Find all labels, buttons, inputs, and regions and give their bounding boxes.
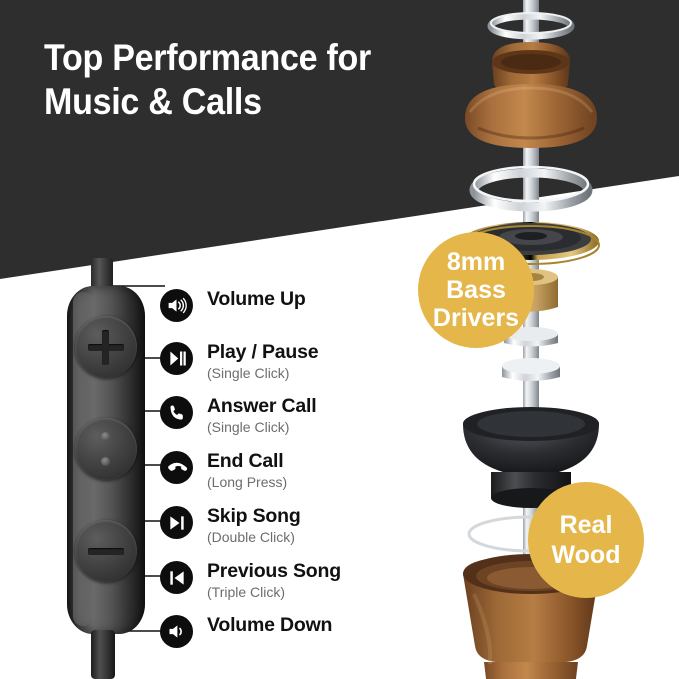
plus-icon-vertical	[102, 330, 109, 365]
feature-sublabel: (Long Press)	[207, 473, 287, 492]
volume-up-icon	[160, 289, 193, 322]
badge-line-2: Wood	[552, 540, 621, 570]
dot-upper-icon	[101, 432, 110, 441]
multifunction-button[interactable]	[75, 418, 137, 480]
feature-previous-song: Previous Song (Triple Click)	[160, 560, 341, 602]
feature-end-call: End Call (Long Press)	[160, 450, 287, 492]
feature-label: End Call	[207, 450, 287, 472]
page-title: Top Performance for Music & Calls	[44, 36, 430, 124]
real-wood-badge: Real Wood	[528, 482, 644, 598]
answer-call-icon	[160, 396, 193, 429]
volume-down-button[interactable]	[75, 520, 137, 582]
headline-line-1: Top Performance for	[44, 36, 430, 80]
badge-line-3: Drivers	[433, 304, 519, 332]
badge-line-2: Bass	[446, 276, 506, 304]
volume-down-icon	[160, 615, 193, 648]
feature-volume-down: Volume Down	[160, 614, 332, 648]
feature-volume-up: Volume Up	[160, 288, 306, 322]
feature-text: Skip Song (Double Click)	[207, 505, 301, 547]
feature-label: Skip Song	[207, 505, 301, 527]
feature-sublabel: (Single Click)	[207, 418, 316, 437]
feature-sublabel: (Double Click)	[207, 528, 301, 547]
skip-song-icon	[160, 506, 193, 539]
feature-text: Volume Up	[207, 288, 306, 310]
feature-label: Answer Call	[207, 395, 316, 417]
feature-label: Previous Song	[207, 560, 341, 582]
feature-text: End Call (Long Press)	[207, 450, 287, 492]
badge-line-1: 8mm	[447, 248, 505, 276]
bass-drivers-badge: 8mm Bass Drivers	[418, 232, 534, 348]
product-infographic: Top Performance for Music & Calls	[0, 0, 679, 679]
feature-answer-call: Answer Call (Single Click)	[160, 395, 316, 437]
feature-label: Volume Up	[207, 288, 306, 310]
end-call-icon	[160, 451, 193, 484]
dot-lower-icon	[101, 457, 110, 466]
feature-text: Answer Call (Single Click)	[207, 395, 316, 437]
feature-text: Volume Down	[207, 614, 332, 636]
silver-disc-lower	[502, 358, 560, 381]
headline-line-2: Music & Calls	[44, 80, 430, 124]
minus-icon	[88, 548, 124, 555]
feature-skip-song: Skip Song (Double Click)	[160, 505, 301, 547]
badge-line-1: Real	[560, 510, 613, 540]
cable-lower	[91, 630, 115, 679]
play-pause-icon	[160, 342, 193, 375]
feature-label: Volume Down	[207, 614, 332, 636]
feature-play-pause: Play / Pause (Single Click)	[160, 341, 318, 383]
feature-label: Play / Pause	[207, 341, 318, 363]
feature-text: Play / Pause (Single Click)	[207, 341, 318, 383]
volume-up-button[interactable]	[75, 316, 137, 378]
feature-text: Previous Song (Triple Click)	[207, 560, 341, 602]
wooden-housing-cap	[465, 42, 597, 148]
feature-sublabel: (Triple Click)	[207, 583, 341, 602]
previous-song-icon	[160, 561, 193, 594]
feature-sublabel: (Single Click)	[207, 364, 318, 383]
